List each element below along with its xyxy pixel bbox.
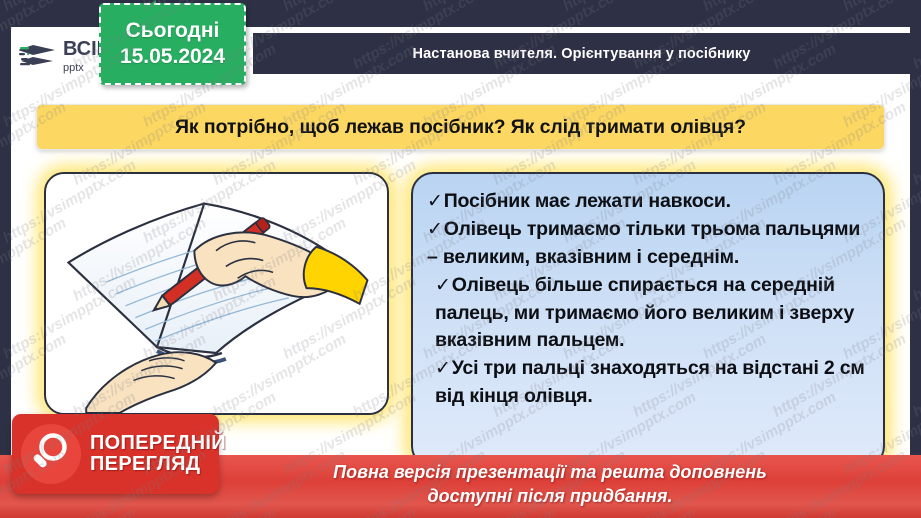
slide-header-bar: Настанова вчителя. Орієнтування у посібн… bbox=[253, 33, 910, 74]
question-banner: Як потрібно, щоб лежав посібник? Як слід… bbox=[36, 104, 885, 150]
preview-badge: ПОПЕРЕДНІЙ ПЕРЕГЛЯД bbox=[12, 414, 219, 494]
list-item: ✓Олівець тримаємо тільки трьома пальцями… bbox=[427, 216, 869, 272]
question-banner-text: Як потрібно, щоб лежав посібник? Як слід… bbox=[175, 116, 746, 139]
preview-badge-line1: ПОПЕРЕДНІЙ bbox=[90, 433, 226, 454]
content-card: ✓Посібник має лежати навкоси. ✓Олівець т… bbox=[411, 172, 885, 468]
list-item: ✓Посібник має лежати навкоси. bbox=[427, 188, 869, 216]
check-icon: ✓ bbox=[427, 219, 443, 240]
date-badge-value: 15.05.2024 bbox=[101, 44, 244, 70]
list-item-text: Олівець більше спирається на середній па… bbox=[435, 274, 854, 352]
hand-writing-illustration bbox=[46, 174, 387, 413]
preview-badge-text: ПОПЕРЕДНІЙ ПЕРЕГЛЯД bbox=[90, 433, 226, 475]
list-item: ✓Олівець більше спирається на середній п… bbox=[427, 272, 869, 355]
magnifier-icon bbox=[21, 424, 81, 484]
brand-suffix: pptx bbox=[63, 62, 84, 74]
graduation-cap-icon bbox=[19, 40, 61, 74]
watermark-text: https://vsimpptx.com bbox=[910, 99, 921, 189]
check-icon: ✓ bbox=[435, 275, 451, 296]
watermark-text: https://vsimpptx.com bbox=[560, 0, 699, 15]
purchase-notice-text: Повна версія презентації та решта доповн… bbox=[200, 461, 900, 509]
preview-badge-line2: ПЕРЕГЛЯД bbox=[90, 454, 226, 475]
purchase-notice-line1: Повна версія презентації та решта доповн… bbox=[333, 462, 767, 482]
watermark-text: https://vsimpptx.com bbox=[700, 0, 839, 15]
date-badge: Сьогодні 15.05.2024 bbox=[99, 3, 246, 85]
check-icon: ✓ bbox=[435, 358, 451, 379]
watermark-text: https://vsimpptx.com bbox=[910, 331, 921, 421]
watermark-text: https://vsimpptx.com bbox=[910, 215, 921, 305]
list-item-text: Олівець тримаємо тільки трьома пальцями … bbox=[427, 218, 860, 268]
purchase-notice-line2: доступні після придбання. bbox=[428, 486, 673, 506]
illustration-card bbox=[44, 172, 389, 415]
slide-canvas: ВСІМ pptx Сьогодні 15.05.2024 Настанова … bbox=[0, 0, 921, 518]
list-item-text: Усі три пальці знаходяться на відстані 2… bbox=[435, 357, 865, 407]
watermark-text: https://vsimpptx.com bbox=[420, 0, 559, 15]
watermark-text: https://vsimpptx.com bbox=[840, 0, 921, 15]
list-item: ✓Усі три пальці знаходяться на відстані … bbox=[427, 355, 869, 411]
slide-header-title: Настанова вчителя. Орієнтування у посібн… bbox=[413, 46, 751, 62]
date-badge-label: Сьогодні bbox=[101, 18, 244, 44]
watermark-text: https://vsimpptx.com bbox=[910, 0, 921, 73]
list-item-text: Посібник має лежати навкоси. bbox=[444, 190, 731, 212]
watermark-text: https://vsimpptx.com bbox=[280, 0, 419, 15]
check-icon: ✓ bbox=[427, 191, 443, 212]
